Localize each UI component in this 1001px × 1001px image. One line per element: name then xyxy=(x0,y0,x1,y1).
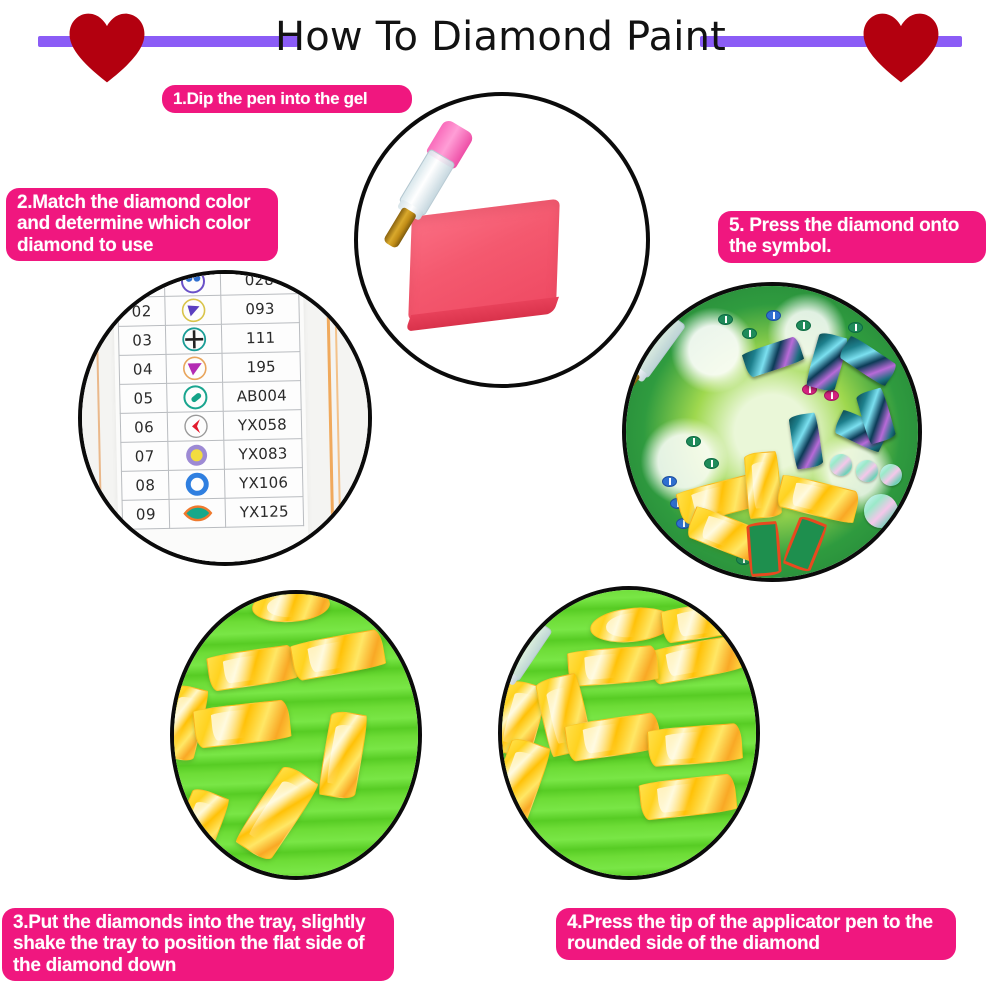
chart-row-code: 028 xyxy=(220,270,299,295)
chart-row-number: 03 xyxy=(118,325,166,355)
chart-row-code: 093 xyxy=(221,294,300,325)
step-4-label: 4.Press the tip of the applicator pen to… xyxy=(556,908,956,960)
triangle-pennant-icon xyxy=(181,355,208,382)
triangle-flag-icon xyxy=(180,297,207,324)
chart-row-symbol xyxy=(169,498,225,528)
chart-row-number: 04 xyxy=(119,354,167,384)
chart-row-number: 07 xyxy=(121,441,169,471)
chart-row-symbol xyxy=(169,469,225,499)
chart-row-code: YX106 xyxy=(224,468,303,499)
placed-gem xyxy=(880,464,902,486)
chart-row-code: YX125 xyxy=(225,497,304,528)
step-5-label: 5. Press the diamond onto the symbol. xyxy=(718,211,986,263)
canvas-symbol xyxy=(848,322,863,333)
chart-row-code: YX058 xyxy=(223,410,302,441)
yellow-petal-gem xyxy=(744,451,783,519)
canvas-symbol xyxy=(824,390,839,401)
chart-row-symbol xyxy=(166,353,222,383)
chart-row-number: 05 xyxy=(120,383,168,413)
chart-row-number: 08 xyxy=(121,470,169,500)
table-row: 07 YX083 xyxy=(121,439,303,472)
chart-row-number: 01 xyxy=(117,270,165,297)
placed-gem xyxy=(856,460,878,482)
step-2-label: 2.Match the diamond color and determine … xyxy=(6,188,278,261)
chart-row-number: 06 xyxy=(120,412,168,442)
ring-with-dot-icon xyxy=(183,442,210,469)
tray-gem xyxy=(567,645,659,687)
chart-row-number: 02 xyxy=(118,296,166,326)
diagonal-capsule-icon xyxy=(182,384,209,411)
canvas-symbol xyxy=(796,320,811,331)
chart-row-symbol xyxy=(168,411,224,441)
blue-donut-ring-icon xyxy=(184,471,211,498)
leaf-icon xyxy=(182,502,212,525)
placed-gem xyxy=(864,494,898,528)
step-2-photo: 01 028 xyxy=(78,270,372,566)
color-chart-table: 01 028 xyxy=(117,270,304,530)
step-5-photo xyxy=(622,282,922,582)
step-3-photo xyxy=(170,590,422,880)
gel-pad xyxy=(408,199,560,322)
chart-row-symbol xyxy=(166,324,222,354)
printed-petal-outline xyxy=(746,521,782,577)
table-row: 06 YX058 xyxy=(120,410,302,443)
page-title: How To Diamond Paint xyxy=(0,14,1001,60)
chart-row-code: AB004 xyxy=(222,381,301,412)
tray-gem xyxy=(647,723,743,767)
placed-gem xyxy=(830,454,852,476)
canvas-symbol xyxy=(704,458,719,469)
chart-row-symbol xyxy=(164,270,220,296)
table-row: 09 YX125 xyxy=(122,497,304,530)
table-row: 05 AB004 xyxy=(120,381,302,414)
circle-with-two-dots-icon xyxy=(179,270,206,295)
infographic-root: How To Diamond Paint 1.Dip the pen into … xyxy=(0,0,1001,1001)
canvas-symbol xyxy=(718,314,733,325)
canvas-symbol xyxy=(742,328,757,339)
left-chevron-icon xyxy=(182,413,209,440)
chart-row-code: YX083 xyxy=(224,439,303,470)
plus-cross-icon xyxy=(180,326,207,353)
step-3-label: 3.Put the diamonds into the tray, slight… xyxy=(2,908,394,981)
canvas-symbol xyxy=(686,436,701,447)
table-row: 02 093 xyxy=(118,294,300,327)
table-row: 04 195 xyxy=(119,352,301,385)
canvas-symbol xyxy=(662,476,677,487)
chart-row-symbol xyxy=(165,295,221,325)
table-row: 08 YX106 xyxy=(121,468,303,501)
step-1-photo xyxy=(354,92,650,388)
color-chart-paper: 01 028 xyxy=(113,270,310,566)
table-row: 03 111 xyxy=(118,323,300,356)
chart-row-symbol xyxy=(167,382,223,412)
step-4-photo xyxy=(498,586,760,880)
chart-row-number: 09 xyxy=(122,499,170,529)
chart-row-symbol xyxy=(168,440,224,470)
chart-row-code: 195 xyxy=(222,352,301,383)
chart-row-code: 111 xyxy=(221,323,300,354)
canvas-symbol xyxy=(766,310,781,321)
